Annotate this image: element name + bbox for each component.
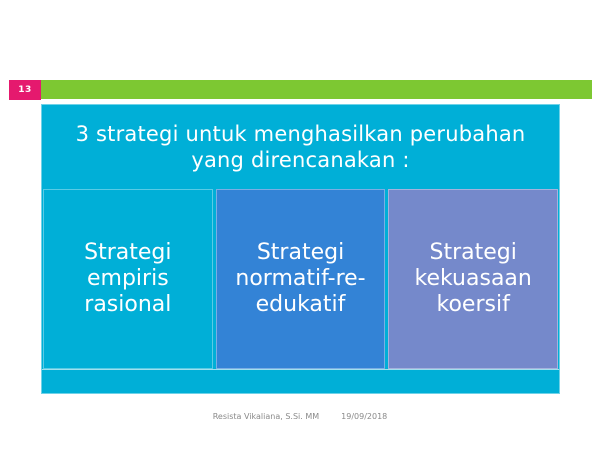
strategy-label-1: Strategi empiris rasional xyxy=(48,240,208,318)
slide-canvas: 13 3 strategi untuk menghasilkan perubah… xyxy=(0,0,600,449)
strategy-column-2[interactable]: Strategi normatif-re-edukatif xyxy=(216,189,386,369)
page-number-badge: 13 xyxy=(9,80,41,100)
green-accent-bar xyxy=(41,80,592,99)
strategy-column-3[interactable]: Strategi kekuasaan koersif xyxy=(388,189,558,369)
card-bottom-strip xyxy=(42,369,559,393)
strategy-label-2: Strategi normatif-re-edukatif xyxy=(221,240,381,318)
content-card: 3 strategi untuk menghasilkan perubahan … xyxy=(41,104,560,394)
footer-date: 19/09/2018 xyxy=(341,412,387,421)
strategy-column-1[interactable]: Strategi empiris rasional xyxy=(43,189,213,369)
strategy-label-3: Strategi kekuasaan koersif xyxy=(393,240,553,318)
strategy-columns: Strategi empiris rasional Strategi norma… xyxy=(42,189,559,369)
slide-footer: Resista Vikaliana, S.Si. MM 19/09/2018 xyxy=(0,412,600,421)
slide-title: 3 strategi untuk menghasilkan perubahan … xyxy=(52,121,549,174)
footer-author: Resista Vikaliana, S.Si. MM xyxy=(213,412,319,421)
title-banner: 3 strategi untuk menghasilkan perubahan … xyxy=(42,105,559,189)
